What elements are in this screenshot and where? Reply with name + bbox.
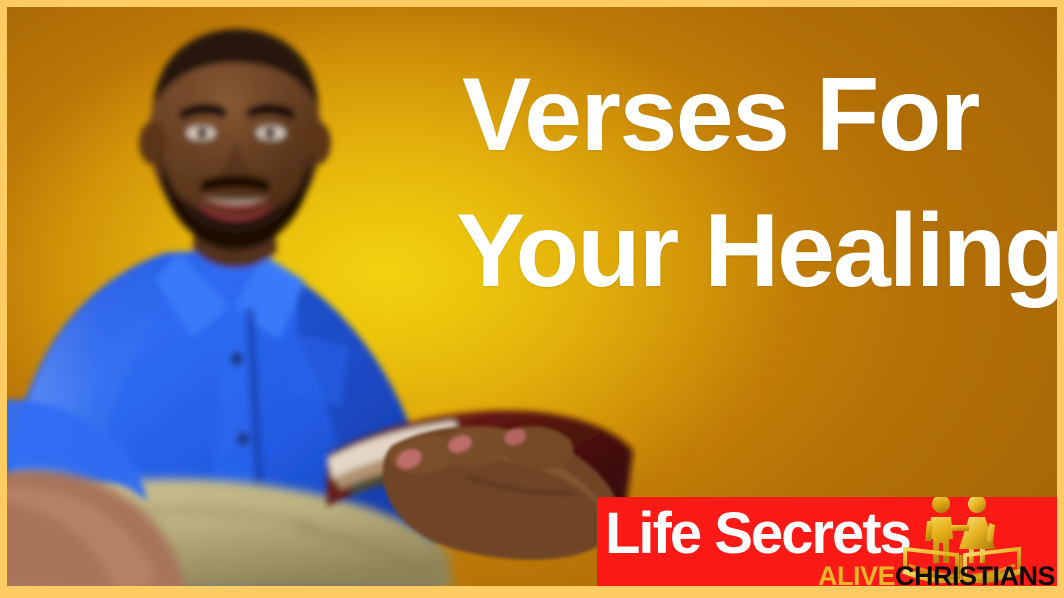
- brand-tagline-christians: CHRISTIANS: [895, 561, 1055, 586]
- subject-photo: [7, 7, 637, 586]
- thumbnail-inner-canvas: Verses For Your Healing Life Secrets: [7, 7, 1057, 586]
- brand-wordmark: Life Secrets: [605, 505, 910, 563]
- video-thumbnail: Verses For Your Healing Life Secrets: [0, 0, 1064, 598]
- brand-tagline-alive: ALIVE: [818, 561, 895, 586]
- brand-banner: Life Secrets: [597, 497, 1057, 586]
- brand-tagline: ALIVECHRISTIANS: [818, 563, 1055, 586]
